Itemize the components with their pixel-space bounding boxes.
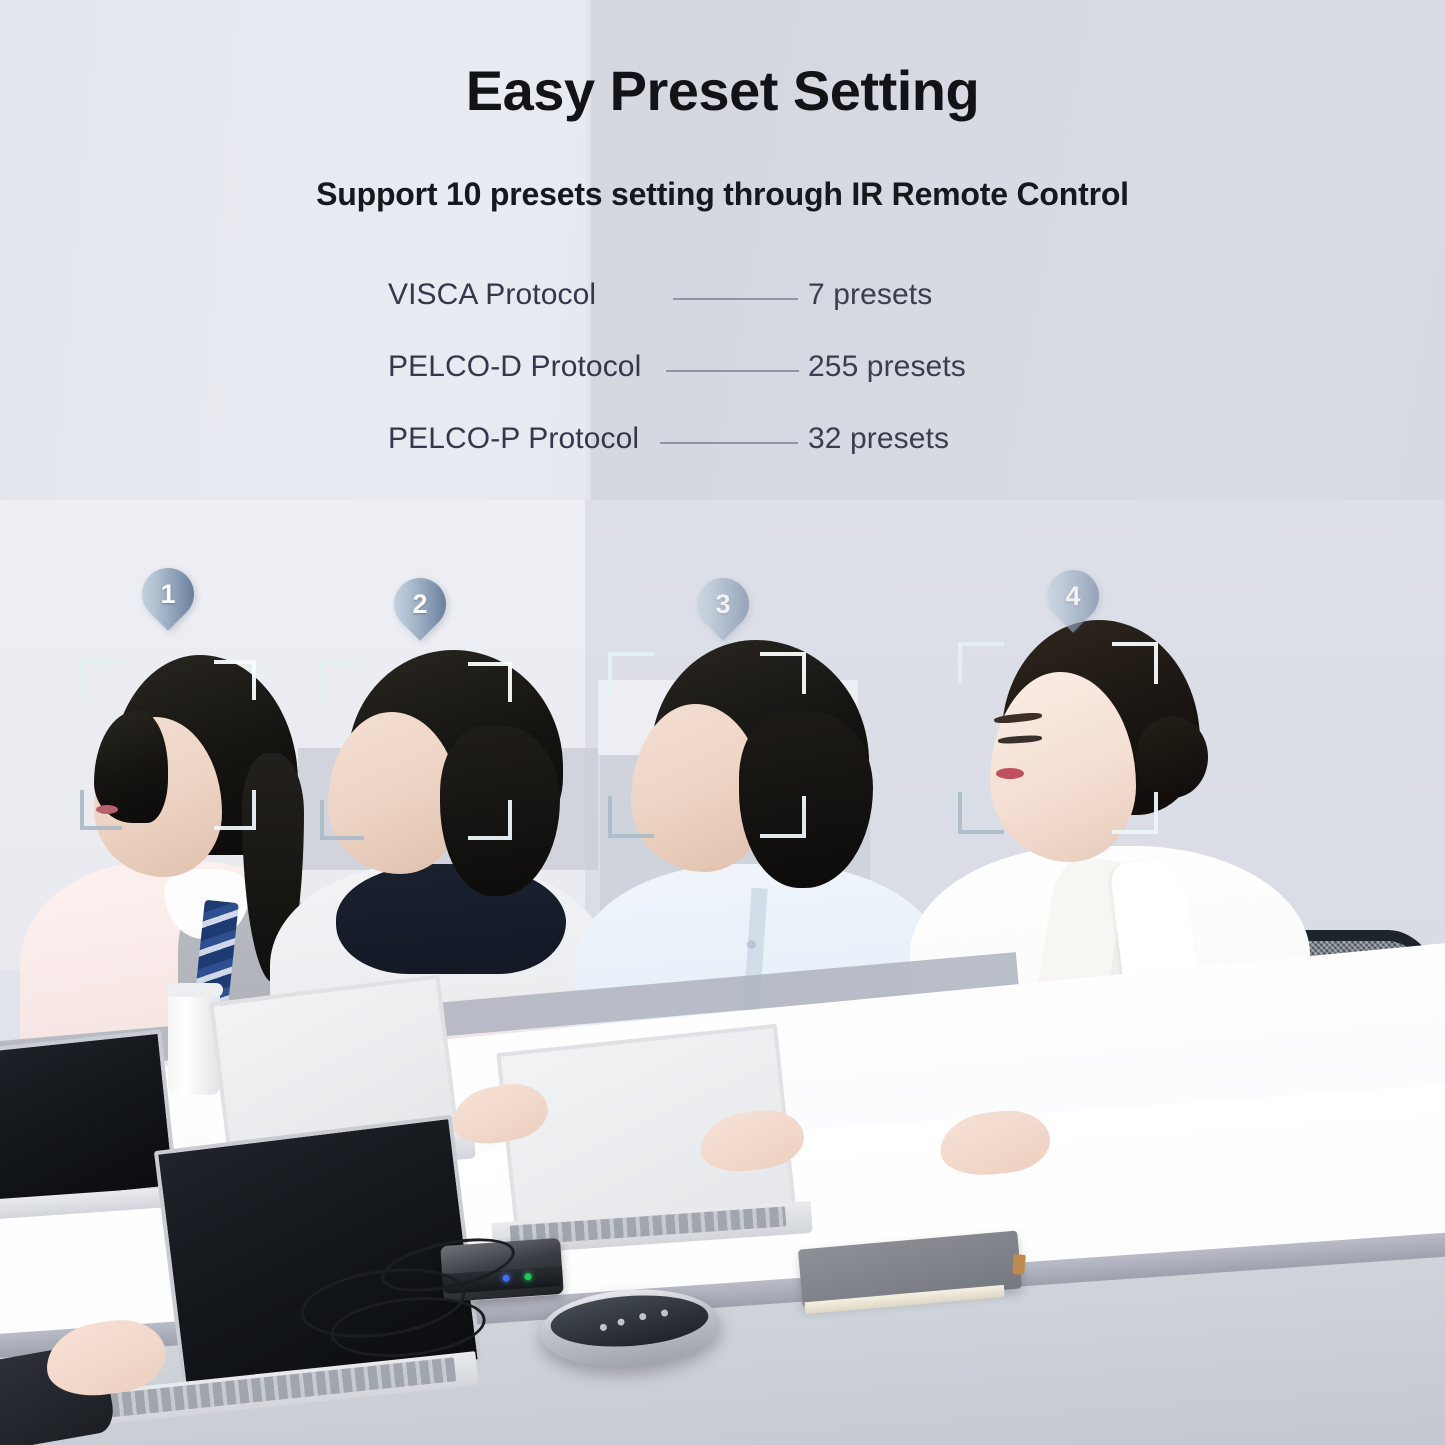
protocol-value-pelco-p: 32 presets	[808, 422, 949, 456]
face-tracking-bracket-2	[320, 662, 512, 840]
preset-marker-3-label: 3	[697, 578, 749, 630]
conference-room-photo	[0, 500, 1445, 1445]
participant-3-button-1	[747, 940, 756, 949]
preset-marker-2[interactable]: 2	[383, 567, 457, 641]
protocol-value-pelco-d: 255 presets	[808, 350, 966, 384]
protocol-name-visca: VISCA Protocol	[388, 278, 596, 312]
preset-marker-3[interactable]: 3	[686, 567, 760, 641]
page-title: Easy Preset Setting	[0, 62, 1445, 121]
protocol-row-visca: VISCA Protocol 7 presets	[388, 278, 1028, 350]
connector-line-pelco-d	[666, 370, 799, 372]
preset-marker-4[interactable]: 4	[1036, 559, 1110, 633]
preset-marker-1[interactable]: 1	[131, 557, 205, 631]
preset-marker-2-label: 2	[394, 578, 446, 630]
preset-marker-4-label: 4	[1047, 570, 1099, 622]
protocol-name-pelco-d: PELCO-D Protocol	[388, 350, 641, 384]
connector-line-visca	[673, 298, 798, 300]
preset-marker-1-label: 1	[142, 568, 194, 620]
preset-setting-infographic: 1 2 3 4 Easy Preset Setting Support 10 p…	[0, 0, 1445, 1445]
connector-line-pelco-p	[660, 442, 798, 444]
protocol-value-visca: 7 presets	[808, 278, 932, 312]
protocol-name-pelco-p: PELCO-P Protocol	[388, 422, 639, 456]
protocol-row-pelco-d: PELCO-D Protocol 255 presets	[388, 350, 1028, 422]
protocol-list: VISCA Protocol 7 presets PELCO-D Protoco…	[388, 278, 1028, 494]
face-tracking-bracket-1	[80, 660, 256, 830]
face-tracking-bracket-4	[958, 642, 1158, 834]
face-tracking-bracket-3	[608, 652, 806, 838]
page-subtitle: Support 10 presets setting through IR Re…	[0, 176, 1445, 213]
protocol-row-pelco-p: PELCO-P Protocol 32 presets	[388, 422, 1028, 494]
